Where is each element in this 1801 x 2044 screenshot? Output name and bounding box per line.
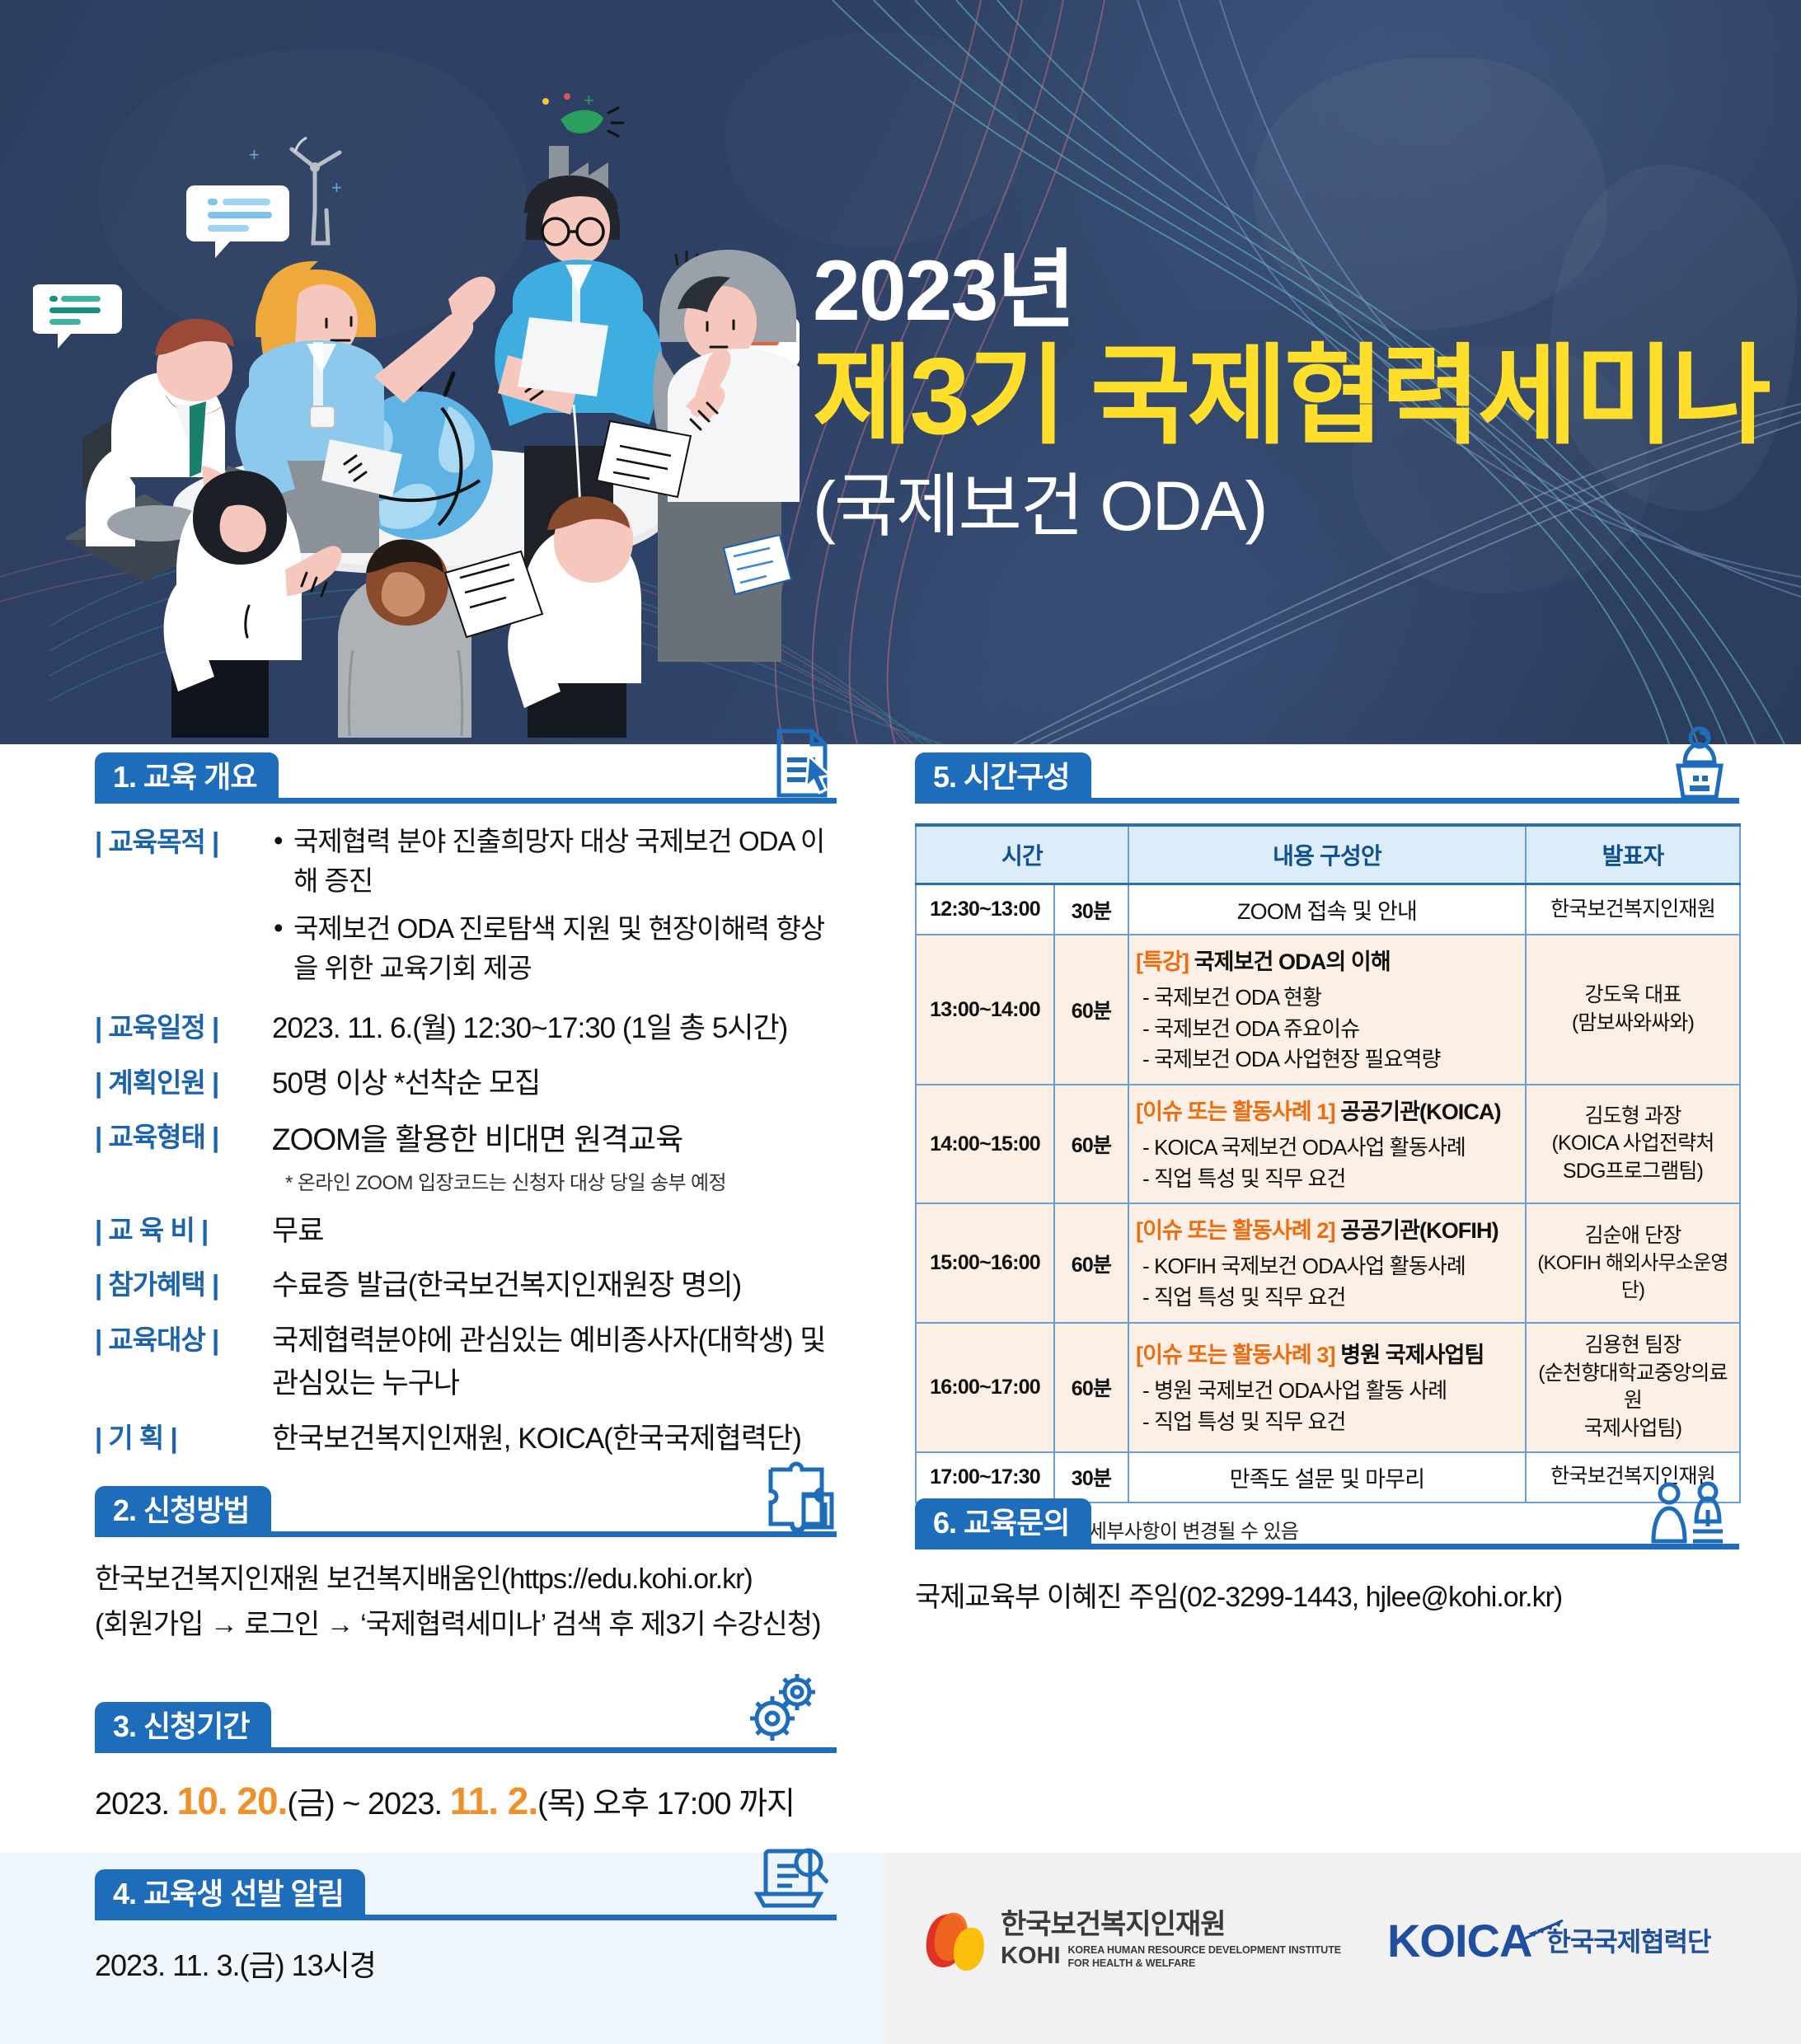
- purpose-bullet: 국제협력 분야 진출희망자 대상 국제보건 ODA 이해 증진: [272, 822, 826, 901]
- row-participation-benefit: | 참가혜택 | 수료증 발급(한국보건복지인재원장 명의): [95, 1264, 837, 1308]
- section-how-to-apply: 2. 신청방법 한국보건복지인재원 보건복지배움인(https://edu.ko…: [95, 1486, 837, 1648]
- koica-wheat-icon: [1523, 1919, 1566, 1942]
- section3-title: 3. 신청기간: [95, 1702, 271, 1752]
- purpose-bullet: 국제보건 ODA 진로탐색 지원 및 현장이해력 향상을 위한 교육기회 제공: [272, 909, 826, 988]
- session-item: - 병원 국제보건 ODA사업 활동 사례: [1136, 1376, 1518, 1407]
- section1-title: 1. 교육 개요: [95, 752, 279, 803]
- speaker-line: 국제사업팀): [1533, 1415, 1733, 1443]
- teamwork-illustration: + + +: [33, 78, 800, 738]
- table-row: 16:00~17:00 60분 [이슈 또는 활동사례 3] 병원 국제사업팀 …: [916, 1323, 1740, 1452]
- session-item: - 국제보건 ODA 쥬요이슈: [1136, 1014, 1518, 1045]
- svg-text:+: +: [584, 90, 594, 110]
- row-education-fee: | 교 육 비 | 무료: [95, 1210, 837, 1254]
- speaker-line: (KOICA 사업전략처: [1533, 1130, 1733, 1158]
- koica-korean-name: 한국국제협력단: [1546, 1921, 1710, 1959]
- section-application-period: 3. 신청기간 2023. 10. 20.(금) ~ 2023. 11. 2.(: [95, 1702, 837, 1823]
- footer-logos: 한국보건복지인재원 KOHI KOREA HUMAN RESOURCE DEVE…: [923, 1908, 1711, 1972]
- gears-icon: [743, 1669, 825, 1745]
- table-header-row: 시간 내용 구성안 발표자: [916, 825, 1740, 884]
- row-education-format: | 교육형태 | ZOOM을 활용한 비대면 원격교육 * 온라인 ZOOM 입…: [95, 1117, 837, 1195]
- hero-subtitle: (국제보건 ODA): [813, 466, 1768, 547]
- session-tag: [이슈 또는 활동사례 1]: [1136, 1099, 1335, 1124]
- kohi-mark-icon: [923, 1908, 987, 1972]
- hero-year: 2023년: [813, 247, 1768, 335]
- session-item: - KOICA 국제보건 ODA사업 활동사례: [1136, 1132, 1518, 1164]
- session-topic: 국제보건 ODA의 이해: [1194, 949, 1391, 974]
- period-prefix: 2023.: [95, 1787, 177, 1821]
- speaker-line: SDG프로그램팀): [1533, 1158, 1733, 1186]
- speaker-line: (맘보싸와싸와): [1533, 1010, 1733, 1038]
- section-contact: 6. 교육문의 국제교육부 이혜진 주임(02-3299-1443, hjlee…: [915, 1498, 1739, 1615]
- puzzle-icon: [762, 1456, 837, 1532]
- apply-steps-line: (회원가입 → 로그인 → ‘국제협력세미나’ 검색 후 제3기 수강신청): [95, 1602, 837, 1648]
- session-tag: [특강]: [1136, 949, 1189, 974]
- table-row: 14:00~15:00 60분 [이슈 또는 활동사례 1] 공공기관(KOIC…: [916, 1085, 1740, 1203]
- session-topic: 공공기관(KOICA): [1340, 1099, 1500, 1124]
- poster-root: + + +: [0, 0, 1801, 2044]
- session-item: - 직업 특성 및 직무 요건: [1136, 1282, 1518, 1314]
- kohi-english-line2: FOR HEALTH & WELFARE: [1068, 1957, 1341, 1970]
- chat-bubble-icon: [33, 284, 122, 349]
- chat-bubble-icon: [186, 185, 289, 258]
- session-topic: 병원 국제사업팀: [1340, 1343, 1484, 1367]
- section4-title: 4. 교육생 선발 알림: [95, 1869, 365, 1920]
- hero-title-block: 2023년 제3기 국제협력세미나 (국제보건 ODA): [813, 247, 1768, 547]
- laptop-search-icon: [749, 1845, 828, 1915]
- podium-speaker-icon: [1665, 724, 1734, 800]
- kohi-korean-name: 한국보건복지인재원: [1001, 1910, 1341, 1940]
- th-time: 시간: [916, 825, 1128, 884]
- hero-title: 제3기 국제협력세미나: [813, 338, 1768, 456]
- row-target-audience: | 교육대상 | 국제협력분야에 관심있는 예비종사자(대학생) 및 관심있는 …: [95, 1320, 837, 1406]
- kohi-english-line1: KOREA HUMAN RESOURCE DEVELOPMENT INSTITU…: [1068, 1944, 1341, 1957]
- application-period-text: 2023. 10. 20.(금) ~ 2023. 11. 2.(목) 오후 17…: [95, 1778, 837, 1823]
- svg-text:+: +: [331, 177, 342, 198]
- speaker-line: 김도형 과장: [1533, 1103, 1733, 1131]
- th-content: 내용 구성안: [1128, 825, 1526, 884]
- content-area: 1. 교육 개요 | 교육목적 | 국제협력 분야 진출희망자 대상 국제보건 …: [0, 744, 1801, 2044]
- th-speaker: 발표자: [1526, 825, 1740, 884]
- row-education-date: | 교육일정 | 2023. 11. 6.(월) 12:30~17:30 (1일…: [95, 1007, 837, 1051]
- selection-notice-text: 2023. 11. 3.(금) 13시경: [95, 1942, 837, 1990]
- koica-wordmark: KOICA: [1387, 1914, 1531, 1967]
- period-mid: (금) ~ 2023.: [287, 1787, 449, 1821]
- row-education-purpose: | 교육목적 | 국제협력 분야 진출희망자 대상 국제보건 ODA 이해 증진…: [95, 822, 837, 996]
- apply-url-line[interactable]: 한국보건복지인재원 보건복지배움인(https://edu.kohi.or.kr…: [95, 1557, 837, 1602]
- format-note: * 온라인 ZOOM 입장코드는 신청자 대상 당일 송부 예정: [285, 1166, 726, 1195]
- section5-title: 5. 시간구성: [915, 752, 1091, 803]
- table-row: 15:00~16:00 60분 [이슈 또는 활동사례 2] 공공기관(KOFI…: [916, 1203, 1740, 1322]
- section6-title: 6. 교육문의: [915, 1498, 1091, 1549]
- table-row: 17:00~17:30 30분 만족도 설문 및 마무리 한국보건복지인재원: [916, 1452, 1740, 1503]
- session-tag: [이슈 또는 활동사례 2]: [1136, 1218, 1335, 1243]
- period-suffix: (목) 오후 17:00 까지: [537, 1787, 795, 1821]
- table-row: 13:00~14:00 60분 [특강] 국제보건 ODA의 이해 - 국제보건…: [916, 935, 1740, 1085]
- schedule-table: 시간 내용 구성안 발표자 12:30~13:00 30분 ZOOM 접속 및 …: [915, 823, 1741, 1503]
- session-item: - KOFIH 국제보건 ODA사업 활동사례: [1136, 1251, 1518, 1282]
- section-schedule: 5. 시간구성: [915, 752, 1739, 1544]
- period-end-highlight: 11. 2.: [450, 1779, 538, 1822]
- session-item: - 직업 특성 및 직무 요건: [1136, 1164, 1518, 1195]
- hero-banner: + + +: [0, 0, 1801, 744]
- section-selection-notice: 4. 교육생 선발 알림 2023. 11. 3.(금) 13시경: [95, 1869, 837, 1990]
- session-item: - 국제보건 ODA 현황: [1136, 982, 1518, 1014]
- section-education-overview: 1. 교육 개요 | 교육목적 | 국제협력 분야 진출희망자 대상 국제보건 …: [95, 752, 837, 1465]
- document-cursor-icon: [766, 728, 837, 799]
- period-start-highlight: 10. 20.: [177, 1779, 288, 1822]
- kohi-logo: 한국보건복지인재원 KOHI KOREA HUMAN RESOURCE DEVE…: [923, 1908, 1341, 1972]
- kohi-abbr: KOHI: [1001, 1943, 1061, 1970]
- speaker-line: (순천향대학교중앙의료원: [1533, 1360, 1733, 1416]
- speaker-line: 김순애 단장: [1533, 1222, 1733, 1250]
- people-info-icon: [1642, 1480, 1733, 1546]
- session-tag: [이슈 또는 활동사례 3]: [1136, 1343, 1335, 1367]
- row-planned-capacity: | 계획인원 | 50명 이상 *선착순 모집: [95, 1062, 837, 1106]
- leaf-icon: [560, 110, 603, 134]
- contact-text[interactable]: 국제교육부 이혜진 주임(02-3299-1443, hjlee@kohi.or…: [915, 1574, 1739, 1615]
- speaker-line: (KOFIH 해외사무소운영단): [1533, 1250, 1733, 1304]
- table-row: 12:30~13:00 30분 ZOOM 접속 및 안내 한국보건복지인재원: [916, 884, 1740, 935]
- session-item: - 직업 특성 및 직무 요건: [1136, 1407, 1518, 1438]
- section2-title: 2. 신청방법: [95, 1486, 271, 1536]
- speaker-line: 김용현 팀장: [1533, 1332, 1733, 1360]
- session-item: - 국제보건 ODA 사업현장 필요역량: [1136, 1044, 1518, 1076]
- session-topic: 공공기관(KOFIH): [1340, 1218, 1498, 1243]
- svg-text:+: +: [249, 144, 260, 165]
- row-organizer: | 기 획 | 한국보건복지인재원, KOICA(한국국제협력단): [95, 1418, 837, 1461]
- speaker-line: 강도욱 대표: [1533, 982, 1733, 1010]
- koica-logo: KOICA 한국국제협력단: [1387, 1914, 1711, 1967]
